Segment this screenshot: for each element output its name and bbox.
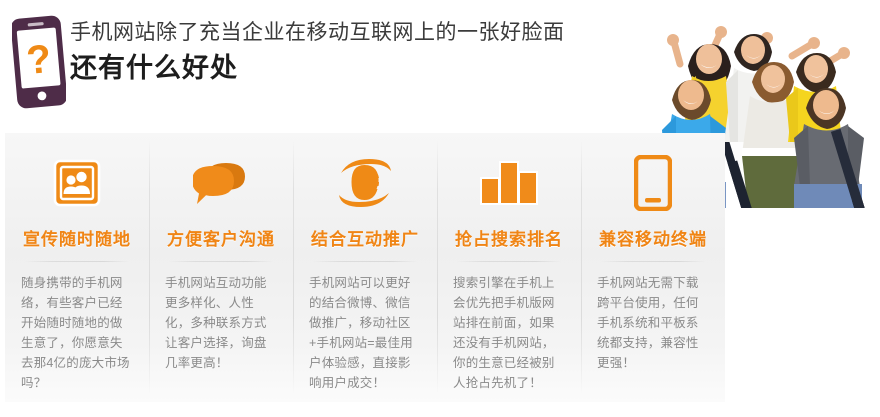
card-title: 抢占搜索排名: [437, 225, 581, 250]
headline-line-2: 还有什么好处: [70, 49, 670, 87]
banner-header: ? 手机网站除了充当企业在移动互联网上的一张好脸面 还有什么好处: [0, 0, 880, 128]
bar-chart-icon: [437, 147, 581, 219]
card-divider: [25, 261, 129, 262]
card-body: 随身携带的手机网络，有些客户已经开始随时随地的做生意了，你愿意失去那4亿的庞大市…: [21, 273, 133, 393]
card-divider: [313, 261, 417, 262]
card-divider: [601, 261, 705, 262]
promo-banner: ? 手机网站除了充当企业在移动互联网上的一张好脸面 还有什么好处: [0, 0, 880, 417]
people-frame-icon: [5, 147, 149, 219]
benefit-card-5[interactable]: 兼容移动终端 手机网站无需下载跨平台使用，任何手机系统和平板系统都支持，兼容性更…: [581, 133, 725, 402]
card-divider: [457, 261, 561, 262]
card-body: 手机网站可以更好的结合微博、微信做推广，移动社区+手机网站=最佳用户体验感，直接…: [309, 273, 421, 393]
speech-bubbles-icon: [149, 147, 293, 219]
card-title: 结合互动推广: [293, 225, 437, 250]
card-title: 兼容移动终端: [581, 225, 725, 250]
card-body: 手机网站无需下载跨平台使用，任何手机系统和平板系统都支持，兼容性更强！: [597, 273, 709, 373]
svg-text:?: ?: [25, 37, 53, 83]
benefit-card-4[interactable]: 抢占搜索排名 搜索引擎在手机上会优先把手机版网站排在前面，如果还没有手机网站，你…: [437, 133, 581, 402]
card-divider: [169, 261, 273, 262]
benefit-card-3[interactable]: 结合互动推广 手机网站可以更好的结合微博、微信做推广，移动社区+手机网站=最佳用…: [293, 133, 437, 402]
headline-line-1: 手机网站除了充当企业在移动互联网上的一张好脸面: [70, 18, 670, 48]
card-body: 手机网站互动功能更多样化、人性化，多种联系方式让客户选择，询盘几率更高！: [165, 273, 277, 373]
benefit-card-1[interactable]: 宣传随时随地 随身携带的手机网络，有些客户已经开始随时随地的做生意了，你愿意失去…: [5, 133, 149, 402]
e-swoosh-icon: [293, 147, 437, 219]
card-title: 宣传随时随地: [5, 225, 149, 250]
headline-block: 手机网站除了充当企业在移动互联网上的一张好脸面 还有什么好处: [70, 18, 670, 87]
benefits-panel: 宣传随时随地 随身携带的手机网络，有些客户已经开始随时随地的做生意了，你愿意失去…: [5, 133, 725, 402]
phone-question-icon: ?: [12, 15, 66, 109]
card-title: 方便客户沟通: [149, 225, 293, 250]
mobile-outline-icon: [581, 147, 725, 219]
benefit-card-2[interactable]: 方便客户沟通 手机网站互动功能更多样化、人性化，多种联系方式让客户选择，询盘几率…: [149, 133, 293, 402]
card-body: 搜索引擎在手机上会优先把手机版网站排在前面，如果还没有手机网站，你的生意已经被别…: [453, 273, 565, 393]
